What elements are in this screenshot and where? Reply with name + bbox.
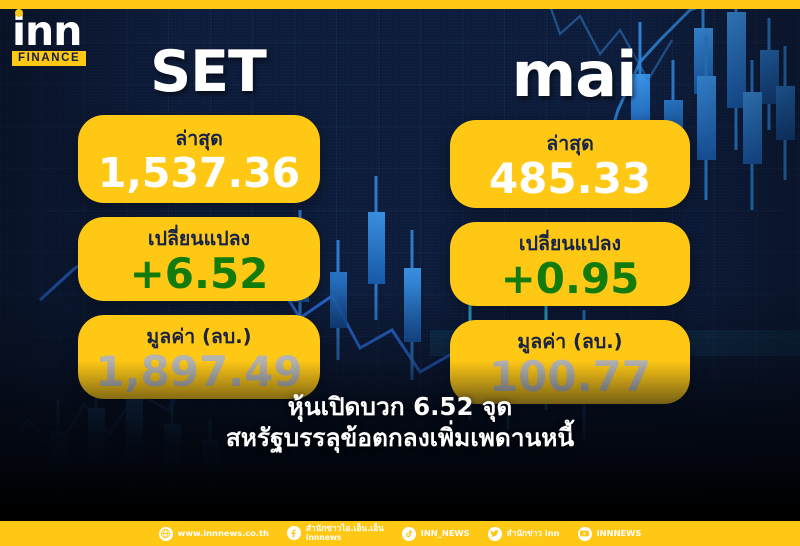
footer-website-label: www.innnews.co.th	[178, 529, 269, 539]
inn-finance-logo: inn FINANCE	[12, 14, 86, 66]
youtube-icon	[578, 527, 592, 541]
footer-youtube-label: INNNEWS	[597, 529, 642, 539]
top-accent-bar	[0, 0, 800, 9]
set-latest-card: ล่าสุด 1,537.36	[78, 115, 320, 203]
footer-item-tiktok[interactable]: INN_NEWS	[393, 527, 479, 541]
footer-item-youtube[interactable]: INNNEWS	[569, 527, 651, 541]
set-latest-value: 1,537.36	[88, 151, 310, 195]
footer-social-bar: www.innnews.co.th สำนักข่าวไอ.เอ็น.เอ็น …	[0, 521, 800, 546]
footer-facebook-label: สำนักข่าวไอ.เอ็น.เอ็น innnews	[306, 524, 384, 543]
footer-item-twitter[interactable]: สำนักข่าว inn	[479, 527, 569, 541]
mai-latest-value: 485.33	[460, 156, 680, 201]
footer-facebook-line1: สำนักข่าวไอ.เอ็น.เอ็น	[306, 523, 384, 533]
globe-icon	[159, 527, 173, 541]
footer-item-website[interactable]: www.innnews.co.th	[150, 527, 278, 541]
headline-line-1: หุ้นเปิดบวก 6.52 จุด	[288, 392, 513, 421]
mai-change-card: เปลี่ยนแปลง +0.95	[450, 222, 690, 306]
set-change-value: +6.52	[88, 251, 310, 296]
index-title-mai: mai	[450, 44, 692, 106]
footer-facebook-line2: innnews	[306, 534, 384, 543]
footer-twitter-label: สำนักข่าว inn	[507, 529, 560, 539]
facebook-icon	[287, 526, 301, 540]
footer-tiktok-label: INN_NEWS	[421, 529, 470, 539]
poster-canvas: inn FINANCE SET ล่าสุด 1,537.36 เปลี่ยนแ…	[0, 0, 800, 546]
index-block-mai: mai ล่าสุด 485.33 เปลี่ยนแปลง +0.95 มูลค…	[450, 44, 692, 404]
footer-item-facebook[interactable]: สำนักข่าวไอ.เอ็น.เอ็น innnews	[278, 524, 393, 543]
tiktok-icon	[402, 527, 416, 541]
headline-line-2: สหรัฐบรรลุข้อตกลงเพิ่มเพดานหนี้	[0, 422, 800, 453]
set-change-label: เปลี่ยนแปลง	[88, 228, 310, 250]
index-title-set: SET	[78, 44, 320, 101]
mai-turnover-label: มูลค่า (ลบ.)	[460, 331, 680, 353]
set-change-card: เปลี่ยนแปลง +6.52	[78, 217, 320, 301]
set-turnover-card: มูลค่า (ลบ.) 1,897.49	[78, 315, 320, 399]
logo-wordmark: inn	[12, 14, 86, 48]
set-latest-label: ล่าสุด	[88, 128, 310, 150]
set-turnover-label: มูลค่า (ลบ.)	[88, 326, 310, 348]
set-turnover-value: 1,897.49	[88, 349, 310, 394]
logo-dot-icon	[15, 9, 23, 17]
mai-change-value: +0.95	[460, 256, 680, 301]
mai-change-label: เปลี่ยนแปลง	[460, 233, 680, 255]
index-block-set: SET ล่าสุด 1,537.36 เปลี่ยนแปลง +6.52 มู…	[78, 44, 320, 399]
mai-latest-card: ล่าสุด 485.33	[450, 120, 690, 208]
headline: หุ้นเปิดบวก 6.52 จุด สหรัฐบรรลุข้อตกลงเพ…	[0, 391, 800, 454]
twitter-icon	[488, 527, 502, 541]
mai-latest-label: ล่าสุด	[460, 133, 680, 155]
